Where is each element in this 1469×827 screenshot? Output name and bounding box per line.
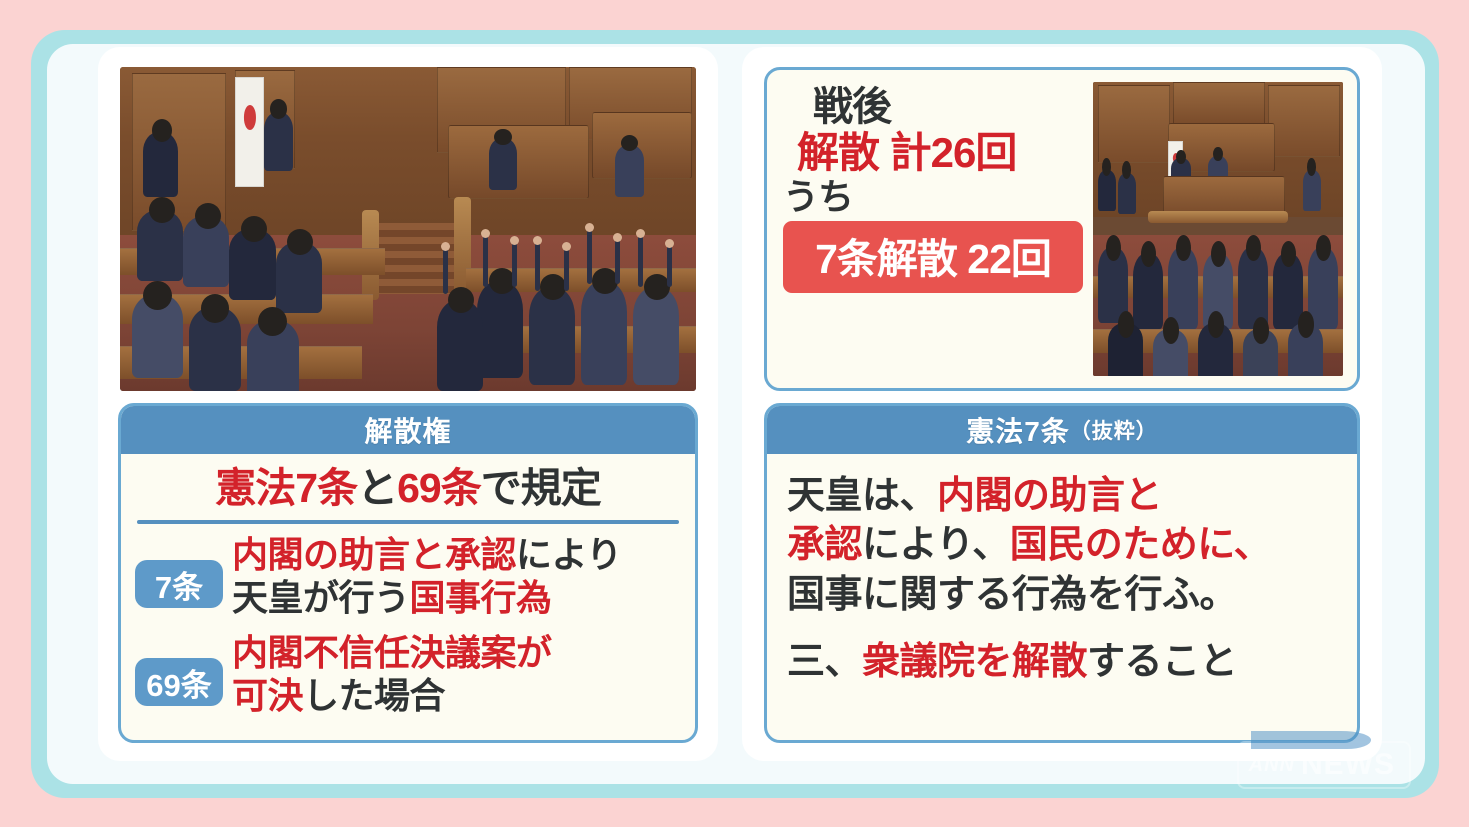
card-header-label: 解散権 [364,410,451,450]
ann-news-watermark: ANN NEWS [1237,741,1411,789]
clause-row-article69: 69条 内閣不信任決議案が 可決した場合 [135,632,681,718]
headline-constitution-articles: 憲法7条と69条で規定 [135,460,681,518]
art-l2-s3: 国民のために、 [1010,524,1271,566]
stat-pill-article7-dissolutions: 7条解散 22回 [783,221,1083,293]
postwar-dissolution-stats-card: 戦後 解散 計26回 うち 7条解散 22回 [764,67,1360,391]
art-l2-s2: により、 [862,524,1010,566]
watermark-news-label: NEWS [1301,748,1395,782]
headline-seg-and: と [357,465,397,511]
clause-line-2: 可決した場合 [232,675,552,718]
right-panel: 戦後 解散 計26回 うち 7条解散 22回 [742,47,1382,761]
card-header-article7: 憲法7条（抜粋） [767,406,1357,454]
stat-total-dissolutions: 解散 計26回 [783,128,1093,178]
card-body: 憲法7条と69条で規定 7条 内閣の助言と承認により 天皇が行う国事行為 [121,454,695,740]
clause-line-1: 内閣の助言と承認により [232,534,622,577]
clause-line-2: 天皇が行う国事行為 [232,577,622,620]
clause-line-1: 内閣不信任決議案が [232,632,552,675]
art-l4-s2: 衆議院を解散 [862,641,1087,683]
broadcast-graphic: 解散権 憲法7条と69条で規定 7条 内閣の助言と承認により [0,0,1469,827]
clause7-l2-red: 国事行為 [410,577,552,618]
headline-seg-article7: 憲法7条 [215,465,357,511]
article-paragraph-line-2: 承認により、国民のために、 [787,521,1341,570]
art-l4-s3: すること [1087,641,1237,683]
diet-chamber-photo-right [1093,82,1343,376]
article-paragraph-spacer [787,620,1341,638]
headline-seg-stipulated: で規定 [481,465,601,511]
clause69-l2-black: した場合 [303,675,445,716]
diet-chamber-photo-left [120,67,696,391]
dissolution-power-card: 解散権 憲法7条と69条で規定 7条 内閣の助言と承認により [118,403,698,743]
clause69-l1-red: 内閣不信任決議案が [232,632,552,673]
badge-article-7: 7条 [135,560,223,608]
article-paragraph-line-4: 三、衆議院を解散すること [787,638,1341,687]
clause7-l1-black: により [516,534,622,575]
stat-label-postwar: 戦後 [783,86,1093,128]
clause7-l1-red: 内閣の助言と承認 [232,534,516,575]
clause-text-article69: 内閣不信任決議案が 可決した場合 [232,632,552,718]
card-header-kaisanken: 解散権 [121,406,695,454]
art-l3-s1: 国事に関する行為を行ふ。 [787,574,1237,616]
card-header-label-sub: （抜粋） [1070,415,1158,445]
headline-divider [137,520,679,524]
badge-article-7-label: 7条 [155,562,203,607]
stat-label-ofwhich: うち [783,178,1093,216]
clause69-l2-red: 可決 [232,675,303,716]
article-paragraph-line-1: 天皇は、内閣の助言と [787,472,1341,521]
art-l2-s1: 承認 [787,524,862,566]
badge-article-69-label: 69条 [146,660,211,705]
card-header-label-main: 憲法7条 [966,410,1070,450]
art-l4-s1: 三、 [787,641,862,683]
constitution-article7-card: 憲法7条（抜粋） 天皇は、内閣の助言と 承認により、国民のために、 国事に関する… [764,403,1360,743]
art-l1-s1: 天皇は、 [787,475,937,517]
clause-row-article7: 7条 内閣の助言と承認により 天皇が行う国事行為 [135,534,681,620]
clause7-l2-black: 天皇が行う [232,577,410,618]
stats-text-block: 戦後 解散 計26回 うち 7条解散 22回 [783,86,1093,293]
watermark-swoosh-icon [1251,731,1371,749]
art-l1-s2: 内閣の助言と [937,475,1162,517]
clause-text-article7: 内閣の助言と承認により 天皇が行う国事行為 [232,534,622,620]
left-panel: 解散権 憲法7条と69条で規定 7条 内閣の助言と承認により [98,47,718,761]
watermark-ann-label: ANN [1249,754,1295,777]
article-paragraph-line-3: 国事に関する行為を行ふ。 [787,571,1341,620]
article-body: 天皇は、内閣の助言と 承認により、国民のために、 国事に関する行為を行ふ。 三、… [767,454,1357,698]
headline-seg-article69: 69条 [397,465,481,511]
badge-article-69: 69条 [135,658,223,706]
